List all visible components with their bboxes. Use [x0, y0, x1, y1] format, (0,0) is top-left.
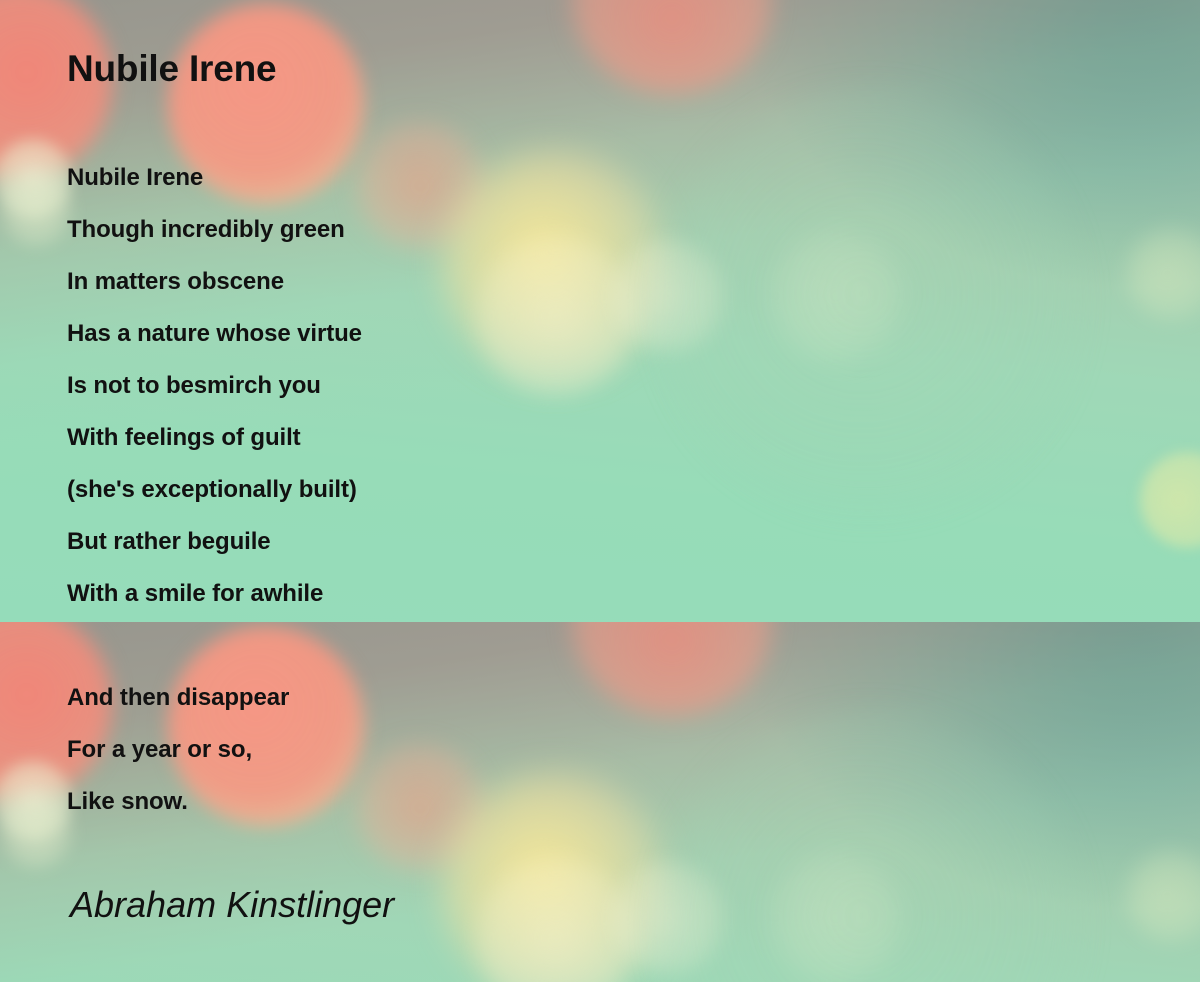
- poem-line: Like snow.: [67, 776, 967, 828]
- poem-stanza-break: [67, 620, 967, 672]
- poem-line: Nubile Irene: [67, 152, 967, 204]
- poem-line: (she's exceptionally built): [67, 464, 967, 516]
- poem-line: And then disappear: [67, 672, 967, 724]
- poem-card: Nubile Irene Nubile Irene Though incredi…: [0, 0, 1200, 982]
- poem-title: Nubile Irene: [67, 48, 276, 90]
- poem-line: With a smile for awhile: [67, 568, 967, 620]
- poem-line: With feelings of guilt: [67, 412, 967, 464]
- poem-line: For a year or so,: [67, 724, 967, 776]
- poem-line: Though incredibly green: [67, 204, 967, 256]
- poem-text-layer: Nubile Irene Nubile Irene Though incredi…: [0, 0, 1200, 982]
- poem-author: Abraham Kinstlinger: [70, 884, 394, 926]
- poem-line: Has a nature whose virtue: [67, 308, 967, 360]
- poem-body: Nubile Irene Though incredibly green In …: [67, 152, 967, 828]
- poem-line: But rather beguile: [67, 516, 967, 568]
- poem-line: Is not to besmirch you: [67, 360, 967, 412]
- poem-line: In matters obscene: [67, 256, 967, 308]
